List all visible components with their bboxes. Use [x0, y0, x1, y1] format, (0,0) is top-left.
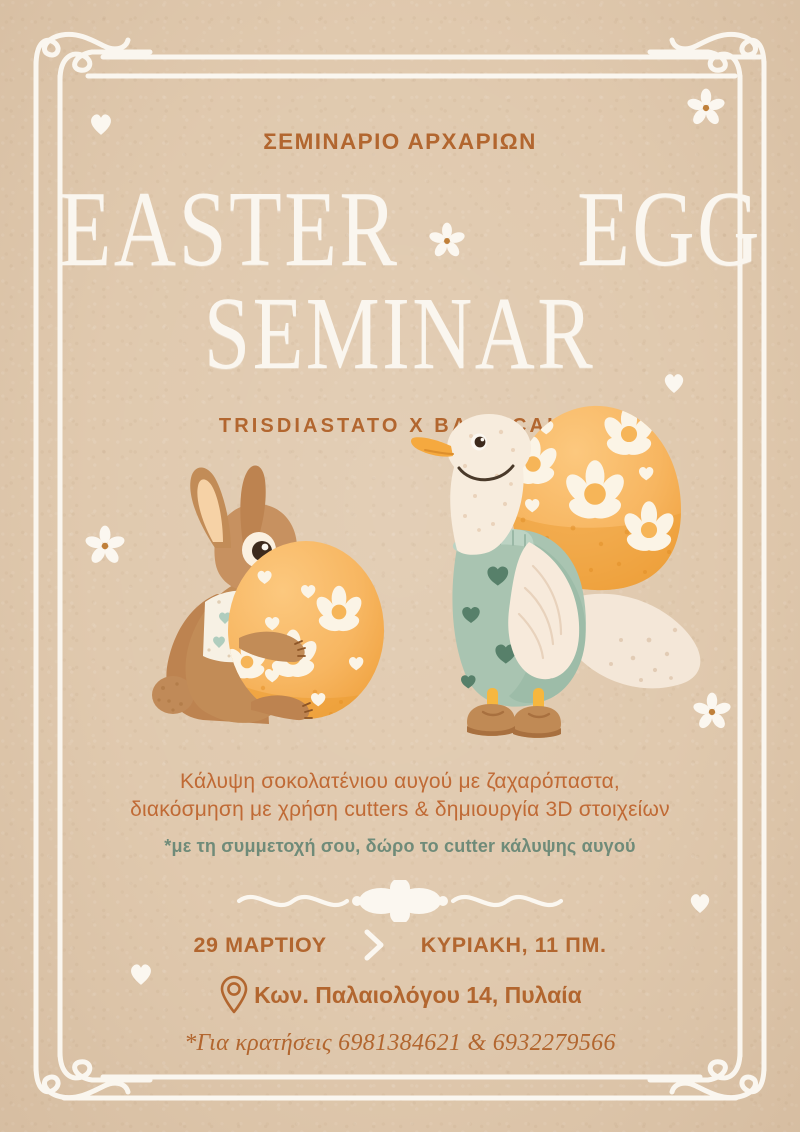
event-time: ΚΥΡΙΑΚΗ, 11 ΠΜ. — [421, 933, 607, 958]
description-line-2: διακόσμηση με χρήση cutters & δημιουργία… — [0, 796, 800, 824]
title-word-seminar: SEMINAR — [204, 282, 595, 386]
bunny-holding-easter-egg — [143, 452, 393, 737]
daisy-flower-icon — [686, 88, 726, 128]
title-line-1: EASTER EGG — [0, 176, 800, 284]
event-date: 29 ΜΑΡΤΙΟΥ — [193, 933, 326, 958]
easter-seminar-poster: ΣΕΜΙΝΑΡΙΟ ΑΡΧΑΡΙΩΝ EASTER EGG SEMINAR TR… — [0, 0, 800, 1132]
daisy-flower-icon — [84, 525, 126, 567]
goose-carrying-easter-egg — [405, 392, 725, 752]
location-row: Κων. Παλαιολόγου 14, Πυλαία — [0, 975, 800, 1015]
description-note: *με τη συμμετοχή σου, δώρο το cutter κάλ… — [0, 836, 800, 857]
event-location: Κων. Παλαιολόγου 14, Πυλαία — [254, 982, 582, 1009]
description-line-1: Κάλυψη σοκολατένιου αυγού με ζαχαρόπαστα… — [0, 768, 800, 796]
title-line-2: SEMINAR — [0, 282, 800, 386]
description-text: Κάλυψη σοκολατένιου αυγού με ζαχαρόπαστα… — [0, 768, 800, 824]
chevron-right-icon — [361, 928, 387, 962]
wavy-floral-divider — [235, 880, 565, 922]
title-word-easter: EASTER — [58, 176, 399, 284]
kicker-text: ΣΕΜΙΝΑΡΙΟ ΑΡΧΑΡΙΩΝ — [0, 129, 800, 155]
date-time-row: 29 ΜΑΡΤΙΟΥ ΚΥΡΙΑΚΗ, 11 ΠΜ. — [0, 928, 800, 962]
map-pin-icon — [218, 975, 250, 1015]
reservations-text: *Για κρατήσεις 6981384621 & 6932279566 — [0, 1030, 800, 1057]
title-word-egg: EGG — [577, 176, 762, 284]
